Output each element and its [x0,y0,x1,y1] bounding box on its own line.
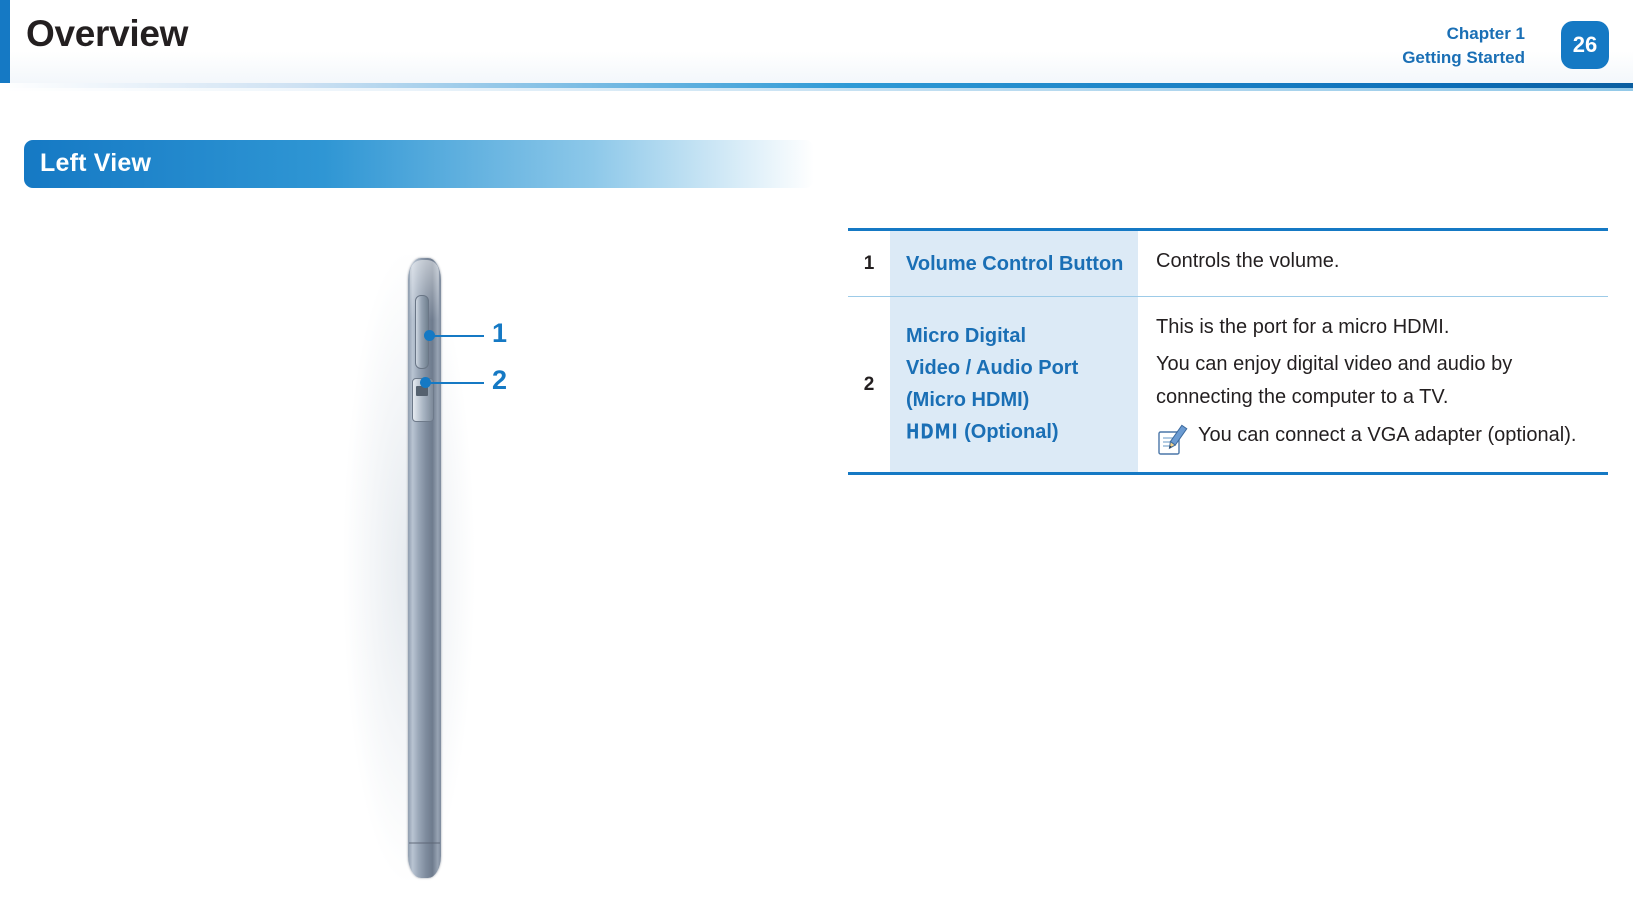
header-accent-bar [0,0,10,83]
chapter-number: Chapter 1 [1402,22,1525,46]
row-2-description-line-2: You can enjoy digital video and audio by… [1156,348,1592,414]
row-2-description-line-1: This is the port for a micro HDMI. [1156,311,1592,344]
row-2-name-line-1: Micro Digital [906,320,1126,352]
row-1-number: 1 [848,230,890,297]
component-description-table: 1 Volume Control Button Controls the vol… [848,228,1608,475]
callout-2-number: 2 [492,365,507,396]
table-row: 1 Volume Control Button Controls the vol… [848,230,1608,297]
note-pencil-icon [1156,424,1190,458]
callout-1-line [429,335,484,337]
row-2-note-text: You can connect a VGA adapter (optional)… [1198,420,1592,451]
hdmi-logo-icon: HDMI [906,412,959,452]
callout-1-number: 1 [492,318,507,349]
table-row: 2 Micro Digital Video / Audio Port (Micr… [848,297,1608,474]
page-header: Overview Chapter 1 Getting Started 26 [0,0,1633,92]
row-2-name-line-4: HDMI (Optional) [906,416,1126,449]
device-illustration: 1 2 [24,230,814,895]
row-2-description: This is the port for a micro HDMI. You c… [1138,297,1608,474]
row-2-number: 2 [848,297,890,474]
chapter-name: Getting Started [1402,46,1525,70]
row-2-name-optional: (Optional) [964,421,1058,443]
row-1-description: Controls the volume. [1138,230,1608,297]
row-1-description-line-1: Controls the volume. [1156,245,1592,278]
page-number-badge: 26 [1561,21,1609,69]
row-2-name-line-2: Video / Audio Port [906,352,1126,384]
header-background [0,0,1633,83]
row-1-component-name: Volume Control Button [890,230,1138,297]
row-2-component-name: Micro Digital Video / Audio Port (Micro … [890,297,1138,474]
page-title: Overview [26,13,188,55]
device-bottom-edge [409,842,440,844]
row-2-note: You can connect a VGA adapter (optional)… [1156,420,1592,458]
header-underline-secondary [0,88,1633,91]
section-title: Left View [40,149,151,178]
chapter-label: Chapter 1 Getting Started [1402,22,1525,70]
callout-2-line [425,382,484,384]
